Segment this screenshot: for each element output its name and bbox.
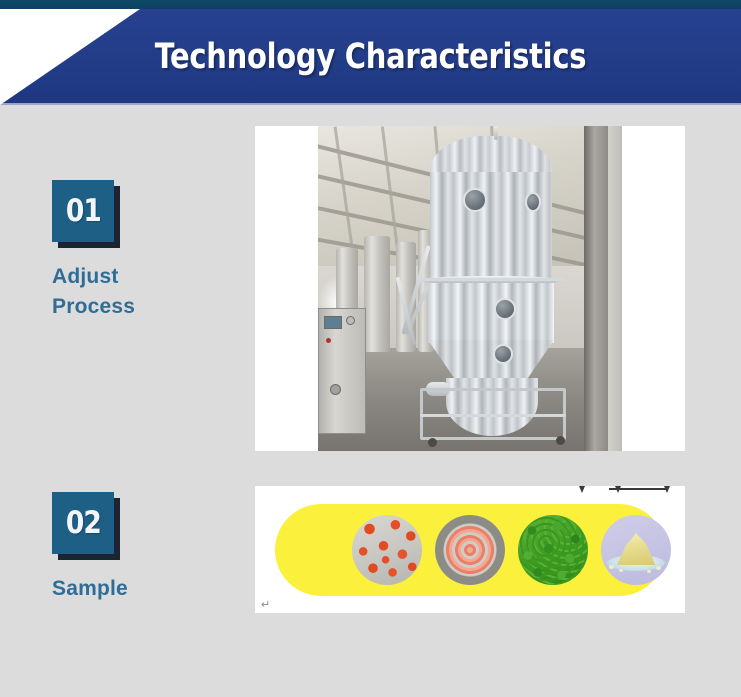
cabinet-knob [330,384,341,395]
photo-panel-samples: ↵ [255,486,685,613]
powder-mound [613,533,659,565]
step-badge-02: 02 [52,492,116,556]
dryer-handle [525,192,541,212]
powder-crumb [647,570,651,573]
dryer-lower-body [428,283,554,343]
trolley-crossbar [420,414,566,417]
cabinet-dial [346,316,355,325]
sample-concentric-salmon-rings [435,515,505,585]
sample-row [275,504,665,596]
right-wall [608,126,622,451]
powder-crumb [619,569,623,572]
badge-number: 02 [66,505,101,541]
tab-ruler-line [609,488,667,490]
pilcrow-mark: ↵ [261,598,270,611]
page-header: Technology Characteristics [0,0,741,105]
sample-pale-yellow-powder-mound [601,515,671,585]
step-badge-01: 01 [52,180,116,244]
sample-orange-beads-on-grey [352,515,422,585]
dryer-exhaust-stub [494,126,498,140]
page-title: Technology Characteristics [30,9,712,105]
powder-crumb [656,566,661,570]
powder-crumb [609,565,614,569]
trolley-wheel [428,438,437,447]
background-machine [364,236,390,352]
fluid-bed-dryer-photo [318,126,622,451]
dryer-rail [418,278,566,281]
badge-number: 01 [66,193,101,229]
header-bottom-edge [0,103,741,105]
badge-square: 02 [52,492,114,554]
sample-green-granules [518,515,588,585]
photo-panel-dryer [255,126,685,451]
cabinet-screen [324,316,342,329]
badge-square: 01 [52,180,114,242]
step-block-01: 01 Adjust Process [52,180,135,323]
step-block-02: 02 Sample [52,492,128,604]
dryer-discharge-port [493,344,513,364]
step-label-02: Sample [52,574,128,604]
step-label-01: Adjust Process [52,262,135,323]
dryer-upper-body [430,172,552,280]
tab-stop-marker-icon [579,486,585,493]
structural-column [584,126,610,451]
granule-samples-photo: ↵ [255,486,685,613]
dryer-inspection-port [494,298,516,320]
trolley-wheel [556,436,565,445]
sample-brown-white-granules [269,515,339,585]
dryer-sight-glass [463,188,487,212]
cabinet-red-button [326,338,331,343]
header-top-strip [0,0,741,9]
